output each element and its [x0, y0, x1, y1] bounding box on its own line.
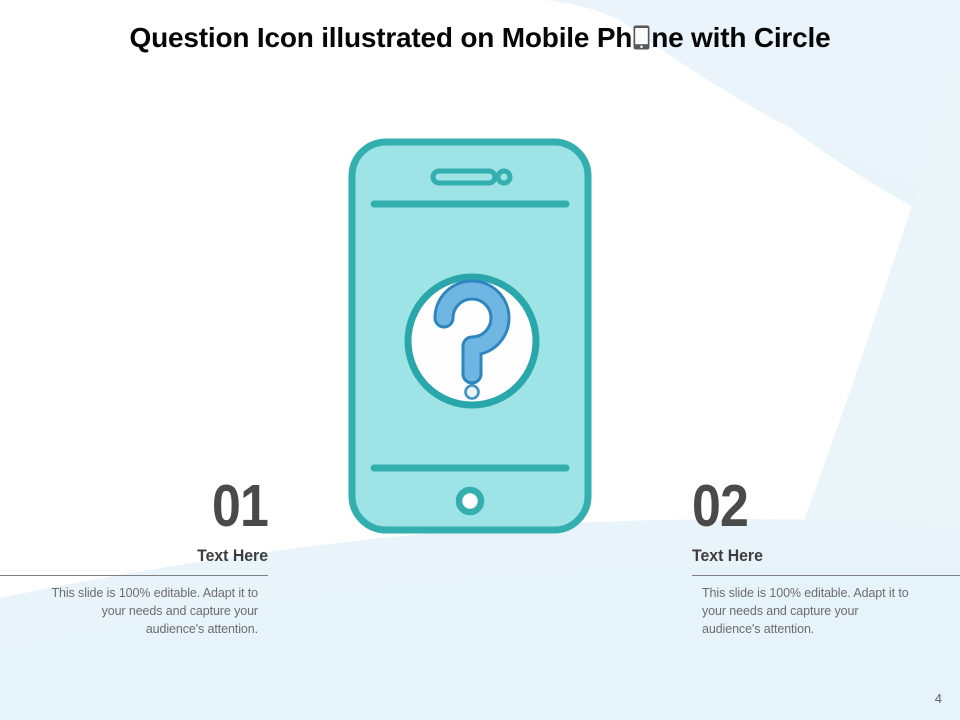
- page-title-text-before: Question Icon illustrated on Mobile Ph: [130, 22, 633, 54]
- slide-canvas: Question Icon illustrated on Mobile Phne…: [0, 0, 960, 720]
- page-title-text-after: ne with Circle: [651, 22, 830, 54]
- mobile-phone-with-question-mark-circle: [348, 138, 592, 534]
- info-block-01-body: This slide is 100% editable. Adapt it to…: [43, 585, 258, 638]
- info-block-01-divider: [0, 575, 268, 576]
- mobile-phone-glyph-icon: [633, 25, 650, 50]
- title-bar: Question Icon illustrated on Mobile Phne…: [0, 18, 960, 58]
- phone-home-button: [459, 490, 481, 512]
- info-block-02-body: This slide is 100% editable. Adapt it to…: [702, 585, 917, 638]
- question-mark-dot: [466, 386, 479, 399]
- info-block-02: 02 Text Here This slide is 100% editable…: [692, 477, 960, 638]
- info-block-01-subtitle: Text Here: [19, 546, 268, 566]
- phone-camera-dot: [498, 171, 510, 183]
- phone-speaker-slot: [433, 171, 495, 183]
- page-number: 4: [935, 691, 942, 706]
- info-block-01: 01 Text Here This slide is 100% editable…: [0, 477, 268, 638]
- info-block-01-number: 01: [32, 477, 268, 536]
- info-block-02-number: 02: [692, 477, 928, 536]
- info-block-02-divider: [692, 575, 960, 576]
- info-block-02-subtitle: Text Here: [692, 546, 941, 566]
- page-title: Question Icon illustrated on Mobile Phne…: [130, 22, 831, 54]
